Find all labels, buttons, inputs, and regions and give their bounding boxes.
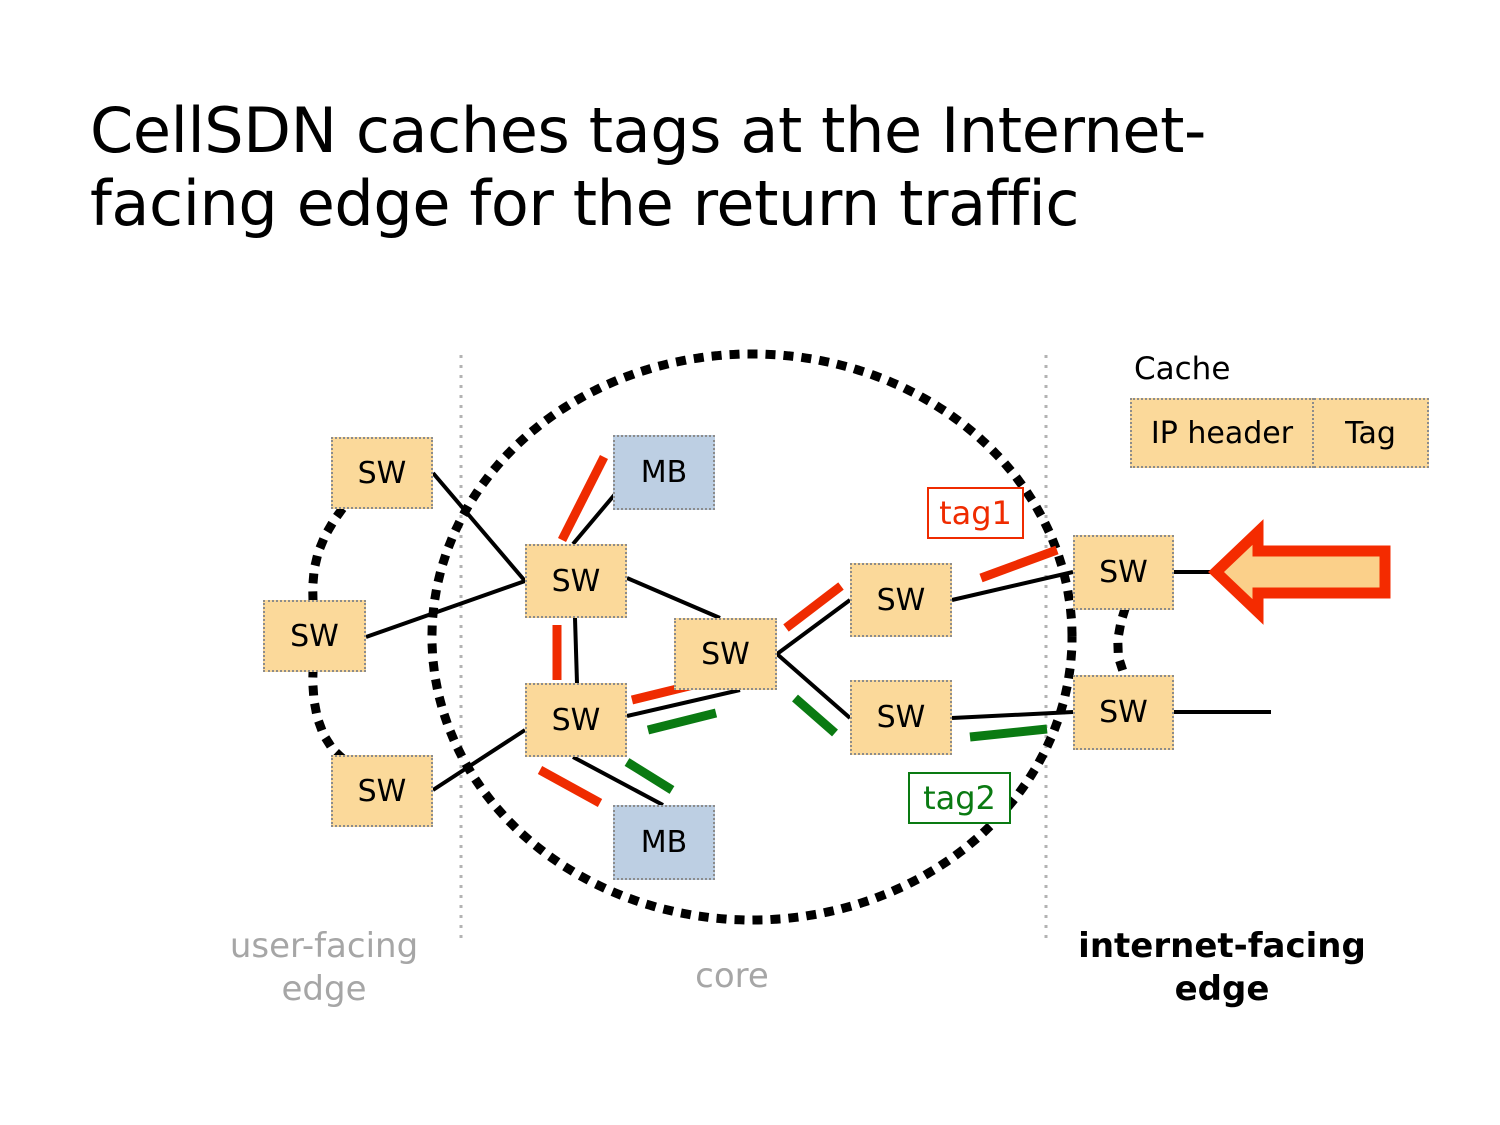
link-core-se-to-ife-bot [952, 712, 1073, 718]
node-label: MB [641, 455, 687, 490]
node-sw-internet-edge-bottom[interactable]: SW [1073, 675, 1174, 750]
node-sw-internet-edge-top[interactable]: SW [1073, 535, 1174, 610]
return-traffic-arrow[interactable] [1216, 532, 1385, 612]
node-label: SW [877, 700, 926, 735]
node-sw-user-edge-bottom[interactable]: SW [331, 755, 433, 827]
node-sw-user-edge-top[interactable]: SW [331, 437, 433, 509]
tag2-marker-core-sw-c [648, 713, 716, 730]
zone-caption-core: core [620, 955, 844, 998]
tag1-legend-box[interactable]: tag1 [927, 487, 1024, 539]
tag1-marker-core-c-ne [786, 586, 841, 628]
node-label: SW [1099, 555, 1148, 590]
node-label: SW [1099, 695, 1148, 730]
link-core-nw-to-core-sw [575, 618, 577, 683]
tag2-marker-core-c-se [795, 698, 835, 733]
tag2-marker-core-sw-mb [627, 762, 672, 790]
node-sw-core-northeast[interactable]: SW [850, 563, 952, 637]
tag2-marker-core-se-ife [970, 729, 1047, 737]
link-core-nw-to-core-c [627, 578, 720, 618]
node-sw-core-southeast[interactable]: SW [850, 680, 952, 755]
node-sw-user-edge-mid[interactable]: SW [263, 600, 366, 672]
node-sw-core-center[interactable]: SW [674, 618, 777, 690]
node-sw-core-northwest[interactable]: SW [525, 544, 627, 618]
network-diagram: SW SW SW MB SW SW SW MB SW SW SW SW tag1… [0, 0, 1500, 1125]
zone-caption-user-facing-edge: user-facing edge [196, 925, 452, 1010]
node-sw-core-southwest[interactable]: SW [525, 683, 627, 757]
access-arc-bottom [313, 672, 341, 757]
node-label: MB [641, 825, 687, 860]
node-label: SW [290, 619, 339, 654]
node-label: SW [552, 703, 601, 738]
tag2-label: tag2 [923, 779, 996, 817]
node-label: SW [877, 583, 926, 618]
node-label: SW [358, 774, 407, 809]
node-mb-bottom[interactable]: MB [613, 805, 715, 880]
tag1-marker-core-sw-mb [540, 770, 600, 803]
node-mb-top[interactable]: MB [613, 435, 715, 510]
tag1-label: tag1 [939, 494, 1012, 532]
link-core-ne-to-ife-top [952, 572, 1073, 600]
node-label: SW [552, 564, 601, 599]
node-label: SW [701, 637, 750, 672]
cache-title: Cache [1134, 351, 1230, 387]
zone-caption-internet-facing-edge: internet-facing edge [1058, 925, 1386, 1010]
tag1-marker-core-ne-ife [981, 550, 1057, 578]
cache-column-ip-header: IP header [1130, 398, 1314, 468]
ife-dotted-link [1118, 612, 1124, 673]
cache-table: IP header Tag [1130, 398, 1429, 468]
access-arc-top [313, 512, 340, 600]
tag2-legend-box[interactable]: tag2 [908, 772, 1011, 824]
node-label: SW [358, 456, 407, 491]
link-ue-mid-to-core-nw [366, 581, 525, 637]
tag1-marker-mb-top [562, 457, 604, 540]
cache-column-tag: Tag [1314, 398, 1429, 468]
